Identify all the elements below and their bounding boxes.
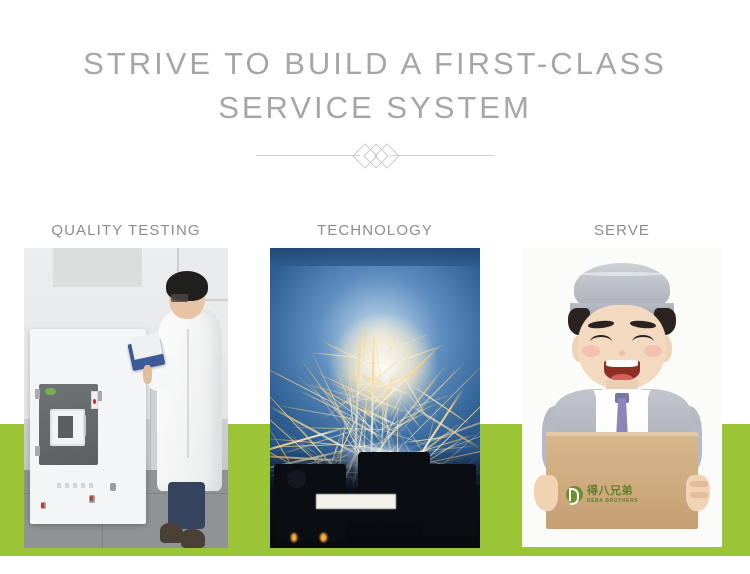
spark-streak (397, 333, 430, 347)
column-caption-technology: TECHNOLOGY (270, 222, 480, 239)
chamber-control-panel (91, 391, 98, 409)
technician-shoe-right (181, 529, 204, 548)
technician-shoe-left (160, 523, 183, 542)
quality-testing-photo (24, 248, 228, 548)
page-title-line-1: STRIVE TO BUILD A FIRST-CLASS (0, 42, 750, 86)
db-monogram-icon (566, 486, 583, 503)
chamber-brand-logo-icon (45, 388, 55, 395)
machine-knob (287, 470, 306, 488)
divider-rule-left (256, 155, 360, 156)
chamber-caster-front (41, 502, 47, 510)
chamber-door-window (50, 409, 85, 446)
technician-trousers (168, 482, 205, 528)
technician-hand (143, 365, 152, 384)
chamber-vent-grille (57, 483, 94, 488)
box-brand-cn: 得八兄弟 (587, 486, 638, 497)
chamber-hinge-top (35, 389, 40, 399)
ornamental-divider (0, 141, 750, 171)
page-title: STRIVE TO BUILD A FIRST-CLASS SERVICE SY… (0, 42, 750, 130)
column-caption-quality-testing: QUALITY TESTING (24, 222, 228, 239)
service-system-banner: STRIVE TO BUILD A FIRST-CLASS SERVICE SY… (0, 0, 750, 574)
column-caption-serve: SERVE (522, 222, 722, 239)
divider-rule-right (390, 155, 494, 156)
spark-streak (395, 345, 444, 363)
serve-photo: 得八兄弟 DEBA BROTHERS (522, 248, 722, 547)
delivery-hand-left (534, 475, 558, 511)
box-brand-logo: 得八兄弟 DEBA BROTHERS (566, 478, 682, 511)
machine-block-right (421, 464, 476, 536)
delivery-finger-2 (690, 492, 708, 498)
technology-photo (270, 248, 480, 548)
delivery-nose (619, 350, 625, 356)
technician-glasses-icon (171, 294, 188, 302)
ember-2 (320, 533, 326, 542)
metal-plate (316, 494, 396, 509)
box-brand-en: DEBA BROTHERS (587, 499, 638, 504)
test-chamber (30, 329, 146, 524)
lab-technician (150, 275, 228, 548)
box-brand-text: 得八兄弟 DEBA BROTHERS (587, 486, 638, 504)
lab-wall-shade (53, 248, 143, 287)
chamber-caster-rear (110, 483, 116, 491)
chamber-hinge-bottom (35, 446, 40, 456)
page-title-line-2: SERVICE SYSTEM (0, 86, 750, 130)
delivery-smile (604, 360, 640, 381)
chamber-caster-mid (89, 495, 95, 503)
delivery-teeth (606, 360, 638, 367)
technician-lab-coat (157, 310, 222, 490)
delivery-finger-1 (690, 481, 708, 487)
